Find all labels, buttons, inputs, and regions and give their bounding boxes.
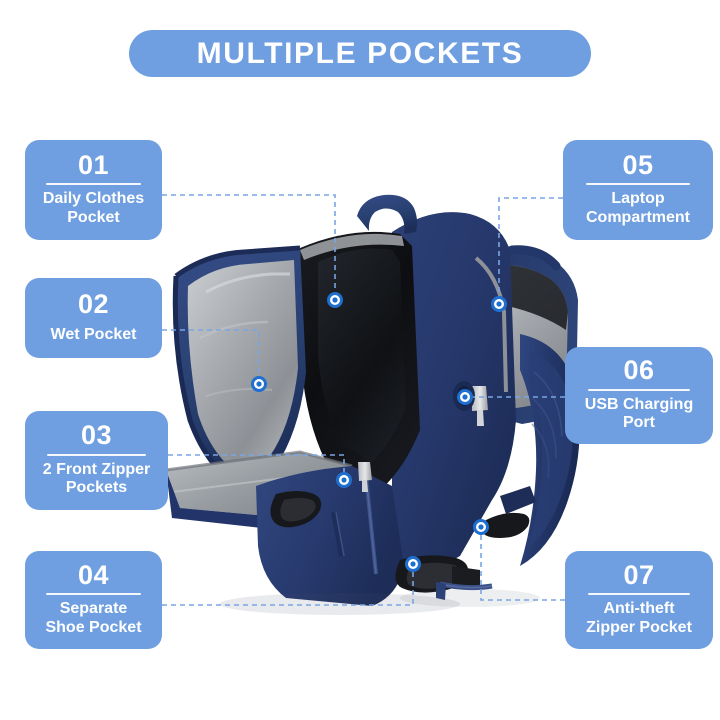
callout-divider-06 [588, 389, 691, 391]
callout-caption-03: 2 Front Zipper Pockets [43, 461, 151, 498]
callout-divider-04 [46, 593, 140, 595]
callout-number-03: 03 [81, 421, 112, 449]
marker-02 [251, 376, 267, 392]
marker-05 [491, 296, 507, 312]
callout-caption-06: USB Charging Port [585, 396, 693, 433]
marker-04 [405, 556, 421, 572]
callout-number-01: 01 [78, 151, 109, 179]
callout-number-05: 05 [622, 151, 653, 179]
connector-line-03 [168, 455, 344, 472]
callout-box-05[interactable]: 05 Laptop Compartment [563, 140, 713, 240]
page-title: MULTIPLE POCKETS [129, 30, 591, 77]
connector-line-04 [162, 572, 413, 605]
connector-line-07 [481, 535, 565, 600]
callout-caption-04: Separate Shoe Pocket [45, 600, 141, 637]
callout-box-07[interactable]: 07 Anti-theft Zipper Pocket [565, 551, 713, 649]
callout-divider-03 [47, 454, 146, 456]
callout-number-06: 06 [623, 356, 654, 384]
callout-number-04: 04 [78, 561, 109, 589]
callout-divider-07 [588, 593, 691, 595]
marker-03 [336, 472, 352, 488]
connector-line-05 [499, 198, 563, 296]
connector-line-02 [162, 330, 259, 376]
callout-number-07: 07 [623, 561, 654, 589]
callout-caption-05: Laptop Compartment [586, 190, 690, 227]
marker-06 [457, 389, 473, 405]
callout-box-02[interactable]: 02 Wet Pocket [25, 278, 162, 358]
callout-divider-01 [46, 183, 140, 185]
callout-box-01[interactable]: 01 Daily Clothes Pocket [25, 140, 162, 240]
marker-07 [473, 519, 489, 535]
marker-01 [327, 292, 343, 308]
callout-caption-07: Anti-theft Zipper Pocket [586, 600, 692, 637]
callout-caption-01: Daily Clothes Pocket [43, 190, 144, 227]
callout-caption-02: Wet Pocket [51, 326, 137, 345]
callout-box-04[interactable]: 04 Separate Shoe Pocket [25, 551, 162, 649]
infographic-canvas: MULTIPLE POCKETS 01 Daily Clothes Pocket… [0, 0, 720, 720]
page-title-text: MULTIPLE POCKETS [197, 39, 524, 69]
callout-number-02: 02 [78, 290, 109, 318]
connector-markers [251, 292, 507, 572]
callout-box-03[interactable]: 03 2 Front Zipper Pockets [25, 411, 168, 510]
callout-divider-05 [586, 183, 691, 185]
connector-line-01 [162, 195, 335, 292]
callout-box-06[interactable]: 06 USB Charging Port [565, 347, 713, 444]
